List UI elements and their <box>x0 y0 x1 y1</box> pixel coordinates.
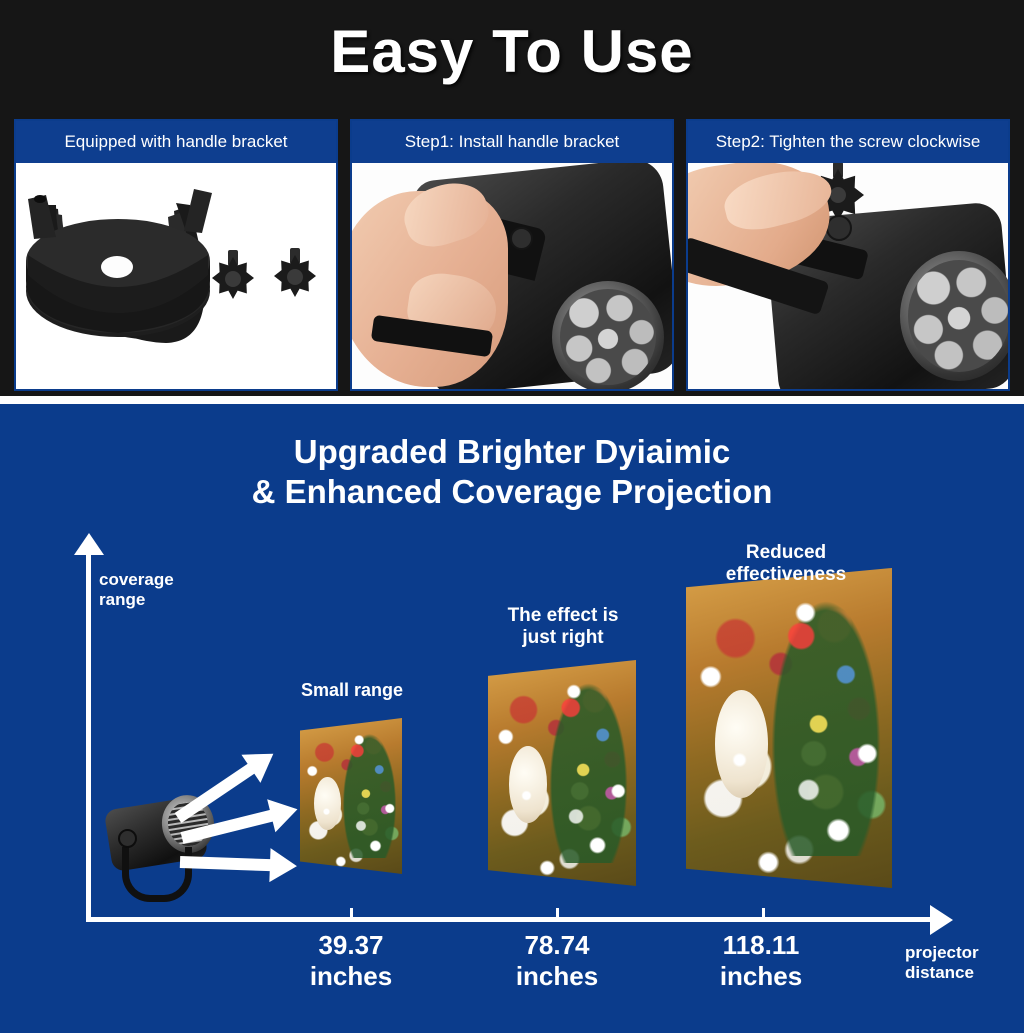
projection-screen-small <box>300 718 402 874</box>
panel-3-image <box>688 163 1008 389</box>
x-axis-label-line2: distance <box>905 963 979 983</box>
distance-label-2: 78.74 inches <box>486 930 628 992</box>
x-axis-tick-1 <box>350 908 353 920</box>
caption-reduced-line2: effectiveness <box>688 564 884 586</box>
projector-lens <box>552 281 664 389</box>
distance-unit-3: inches <box>690 961 832 992</box>
x-axis-arrow-icon <box>930 905 953 935</box>
page-title: Easy To Use <box>0 22 1024 82</box>
y-axis-label: coverage range <box>99 570 174 609</box>
caption-small-range-line1: Small range <box>276 680 428 701</box>
hand-holding-projector-photo <box>352 163 672 389</box>
bracket-screw <box>826 215 852 241</box>
tightening-screw-photo <box>688 163 1008 389</box>
projection-screen-medium <box>488 660 636 886</box>
handle-bracket-illustration <box>16 163 336 389</box>
x-axis-label-line1: projector <box>905 943 979 963</box>
distance-value-1: 39.37 <box>280 930 422 961</box>
panel-1-header: Equipped with handle bracket <box>16 121 336 163</box>
projection-screen-large <box>686 568 892 888</box>
x-axis-tick-3 <box>762 908 765 920</box>
y-axis-label-line1: coverage <box>99 570 174 590</box>
easy-to-use-section: Easy To Use Equipped with handle bracket <box>0 0 1024 396</box>
panel-2-image <box>352 163 672 389</box>
star-knob-1 <box>212 257 254 299</box>
panel-step1-install-handle-bracket: Step1: Install handle bracket <box>350 119 674 391</box>
christmas-projection-image <box>300 718 402 874</box>
x-axis-tick-2 <box>556 908 559 920</box>
bracket-screw <box>510 227 533 250</box>
distance-label-3: 118.11 inches <box>690 930 832 992</box>
projector-lens <box>900 251 1008 381</box>
section-divider <box>0 396 1024 404</box>
caption-effect-just-right: The effect is just right <box>470 605 656 650</box>
beam-arrow-lower <box>180 862 298 866</box>
caption-reduced-effectiveness: Reduced effectiveness <box>688 542 884 587</box>
distance-value-3: 118.11 <box>690 930 832 961</box>
x-axis-line <box>86 917 936 922</box>
section-title-line2: & Enhanced Coverage Projection <box>0 472 1024 512</box>
y-axis-line <box>86 546 91 922</box>
caption-small-range: Small range <box>276 680 428 701</box>
distance-value-2: 78.74 <box>486 930 628 961</box>
steps-panel-group: Equipped with handle bracket <box>14 119 1010 391</box>
caption-reduced-line1: Reduced <box>688 542 884 564</box>
christmas-projection-image <box>488 660 636 886</box>
panel-step2-tighten-the-screw: Step2: Tighten the screw clockwise <box>686 119 1010 391</box>
caption-effect-line1: The effect is <box>470 605 656 627</box>
distance-unit-1: inches <box>280 961 422 992</box>
distance-unit-2: inches <box>486 961 628 992</box>
projector-side-knob <box>118 829 137 848</box>
infographic-page: Easy To Use Equipped with handle bracket <box>0 0 1024 1033</box>
x-axis-label: projector distance <box>905 943 979 982</box>
distance-label-1: 39.37 inches <box>280 930 422 992</box>
panel-equipped-with-handle-bracket: Equipped with handle bracket <box>14 119 338 391</box>
y-axis-label-line2: range <box>99 590 174 610</box>
panel-2-header: Step1: Install handle bracket <box>352 121 672 163</box>
panel-3-header: Step2: Tighten the screw clockwise <box>688 121 1008 163</box>
section-title-line1: Upgraded Brighter Dyiaimic <box>0 432 1024 472</box>
section-title: Upgraded Brighter Dyiaimic & Enhanced Co… <box>0 432 1024 513</box>
panel-1-image <box>16 163 336 389</box>
christmas-projection-image <box>686 568 892 888</box>
star-knob-2 <box>274 255 316 297</box>
caption-effect-line2: just right <box>470 627 656 649</box>
